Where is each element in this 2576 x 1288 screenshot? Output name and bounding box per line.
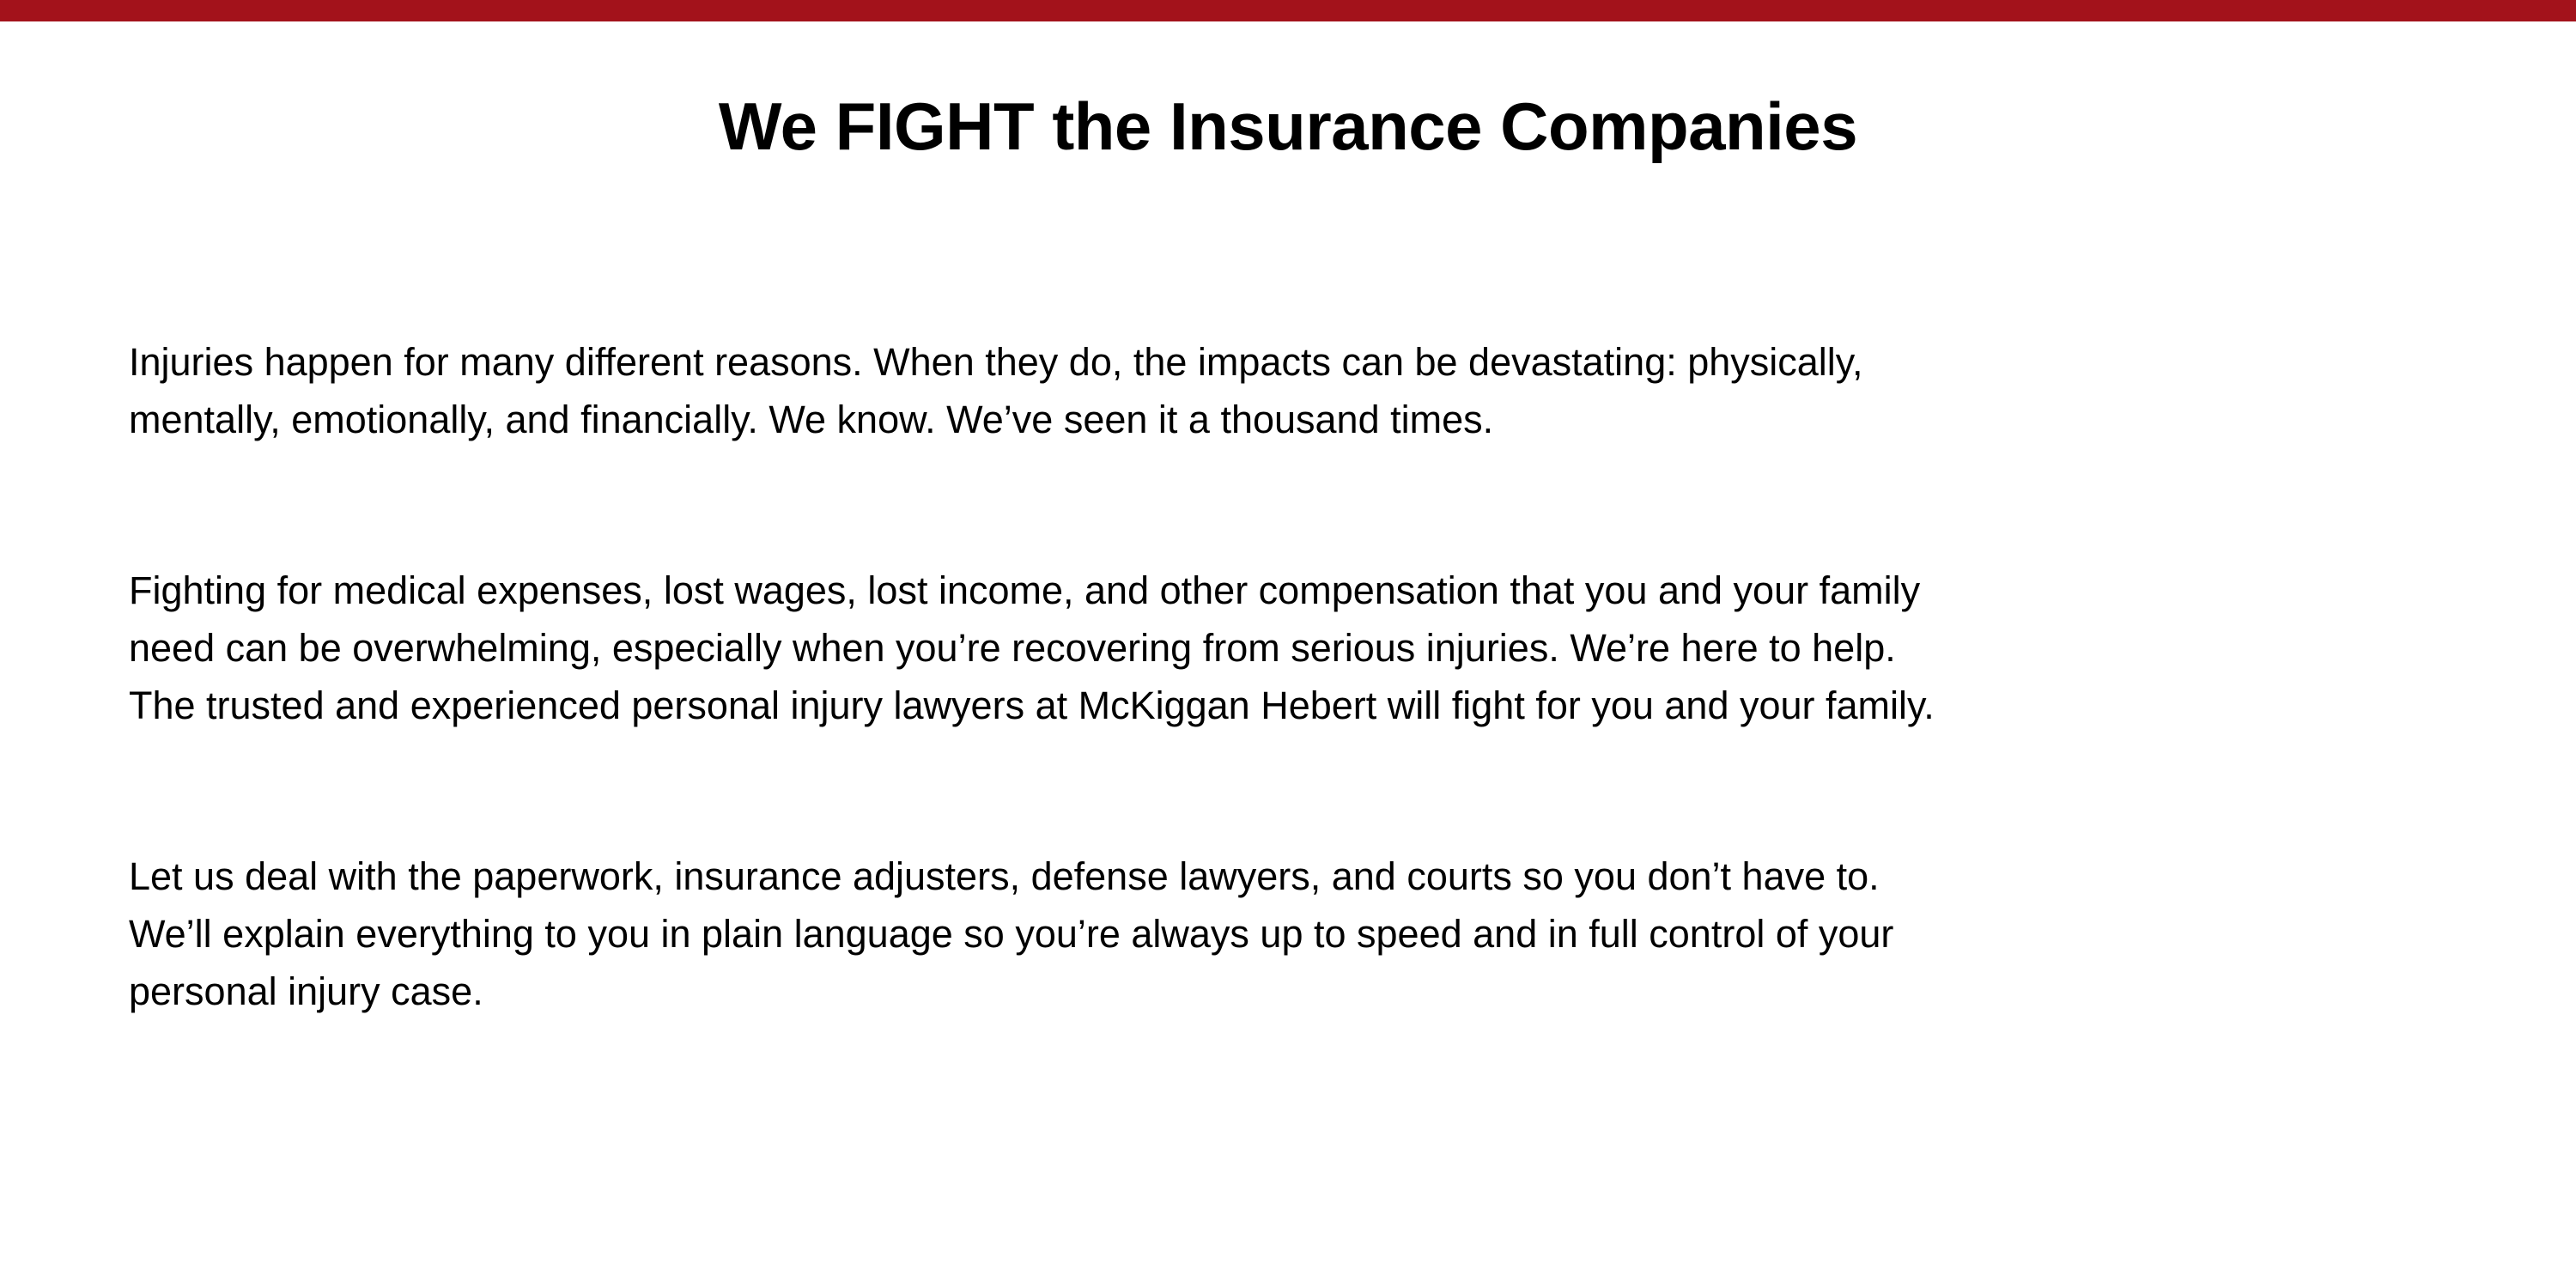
top-accent-band [0, 0, 2576, 21]
paragraph-line: Fighting for medical expenses, lost wage… [129, 562, 2499, 619]
page-title: We FIGHT the Insurance Companies [0, 93, 2576, 160]
paragraph-line: The trusted and experienced personal inj… [129, 677, 2499, 734]
paragraph-line: Let us deal with the paperwork, insuranc… [129, 848, 2499, 905]
paragraph-line: mentally, emotionally, and financially. … [129, 391, 2499, 448]
paragraph-line: We’ll explain everything to you in plain… [129, 905, 2499, 963]
paragraph-line: need can be overwhelming, especially whe… [129, 619, 2499, 677]
body-content: Injuries happen for many different reaso… [129, 333, 2499, 1020]
slide-canvas: We FIGHT the Insurance Companies Injurie… [0, 0, 2576, 1288]
paragraph-line: Injuries happen for many different reaso… [129, 333, 2499, 391]
paragraph-2: Fighting for medical expenses, lost wage… [129, 562, 2499, 734]
paragraph-line: personal injury case. [129, 963, 2499, 1020]
paragraph-1: Injuries happen for many different reaso… [129, 333, 2499, 448]
paragraph-3: Let us deal with the paperwork, insuranc… [129, 848, 2499, 1020]
